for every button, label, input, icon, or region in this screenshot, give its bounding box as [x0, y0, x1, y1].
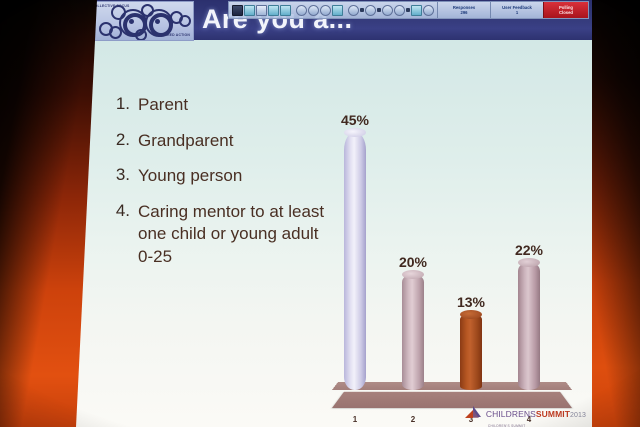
list-item: 4. Caring mentor to at least one child o… [104, 201, 334, 269]
logo-text-bottom-right: AGREED ACTION [159, 33, 190, 37]
polling-status-line2: Closed [559, 10, 573, 15]
bar-cap-1 [344, 128, 366, 137]
summit-word-bold: SUMMIT [536, 409, 570, 419]
polling-status-badge[interactable]: Polling Closed [543, 2, 588, 18]
bar-value-label-2: 20% [399, 254, 427, 270]
bar-group-1: 45% 1 [344, 132, 366, 390]
circle-icon-2[interactable] [308, 5, 319, 16]
list-item-label: Grandparent [138, 130, 233, 153]
bar-value-label-4: 22% [515, 242, 543, 258]
user-feedback-value: 1 [516, 10, 518, 15]
slide-icon[interactable] [332, 5, 343, 16]
summit-arrow-icon [464, 405, 483, 424]
bar-value-label-3: 13% [457, 294, 485, 310]
bar-cap-3 [460, 310, 482, 319]
list-item: 1. Parent [104, 94, 334, 117]
answer-options-list: 1. Parent 2. Grandparent 3. Young person… [104, 94, 334, 282]
lock-icon[interactable] [382, 5, 393, 16]
list-item-number: 1. [104, 94, 138, 117]
screen-icon[interactable] [232, 5, 243, 16]
user-feedback-counter[interactable]: User Feedback 1 [490, 2, 543, 18]
responses-value: 296 [461, 10, 468, 15]
logo-text-top-left: COLLECTIVE FOCUS [92, 4, 129, 8]
chart-bar-icon[interactable] [268, 5, 279, 16]
timer-icon[interactable] [348, 5, 359, 16]
childrens-summit-logo: CHILDRENSSUMMIT2013 CHILDREN'S SUMMIT [464, 403, 586, 425]
list-item: 2. Grandparent [104, 130, 334, 153]
link-icon[interactable] [411, 5, 422, 16]
polling-toolbar[interactable]: Responses 296 User Feedback 1 Polling Cl… [228, 1, 589, 19]
collective-focus-logo: COLLECTIVE FOCUS AGREED ACTION [88, 1, 194, 41]
list-item-number: 4. [104, 201, 138, 269]
dropdown-caret-2[interactable] [377, 8, 381, 12]
pointer-icon[interactable] [256, 5, 267, 16]
photo-of-projected-slide: 1. Parent 2. Grandparent 3. Young person… [0, 0, 640, 427]
responses-counter[interactable]: Responses 296 [437, 2, 490, 18]
refresh-icon[interactable] [423, 5, 434, 16]
list-item-label: Caring mentor to at least one child or y… [138, 201, 334, 269]
chart-column-icon[interactable] [280, 5, 291, 16]
bar-tick-label-1: 1 [353, 415, 357, 424]
slide-body: 1. Parent 2. Grandparent 3. Young person… [76, 40, 592, 427]
settings-icon[interactable] [394, 5, 405, 16]
bar-tick-label-2: 2 [411, 415, 415, 424]
dropdown-caret-1[interactable] [360, 8, 364, 12]
bar-value-label-1: 45% [341, 112, 369, 128]
dropdown-caret-3[interactable] [406, 8, 410, 12]
bar-1 [344, 132, 366, 390]
list-item-number: 2. [104, 130, 138, 153]
list-item-label: Parent [138, 94, 188, 117]
bar-group-3: 13% 3 [460, 314, 482, 390]
summit-year: 2013 [570, 412, 586, 419]
circle-icon-1[interactable] [296, 5, 307, 16]
bar-cap-4 [518, 258, 540, 267]
toolbar-icon-group[interactable] [229, 2, 437, 18]
bar-cap-2 [402, 270, 424, 279]
list-item-label: Young person [138, 165, 242, 188]
circle-icon-3[interactable] [320, 5, 331, 16]
response-grid-icon[interactable] [244, 5, 255, 16]
poll-results-chart: 45% 1 20% 2 13% 3 [322, 100, 584, 427]
list-item: 3. Young person [104, 165, 334, 188]
list-item-number: 3. [104, 165, 138, 188]
bar-3 [460, 314, 482, 390]
summit-wordmark: CHILDRENSSUMMIT2013 [486, 409, 586, 419]
projection-screen: 1. Parent 2. Grandparent 3. Young person… [76, 0, 592, 427]
bar-group-4: 22% 4 [518, 262, 540, 390]
summit-word-light: CHILDRENS [486, 409, 536, 419]
bar-2 [402, 274, 424, 390]
clock-icon[interactable] [365, 5, 376, 16]
bar-4 [518, 262, 540, 390]
bar-group-2: 20% 2 [402, 274, 424, 390]
